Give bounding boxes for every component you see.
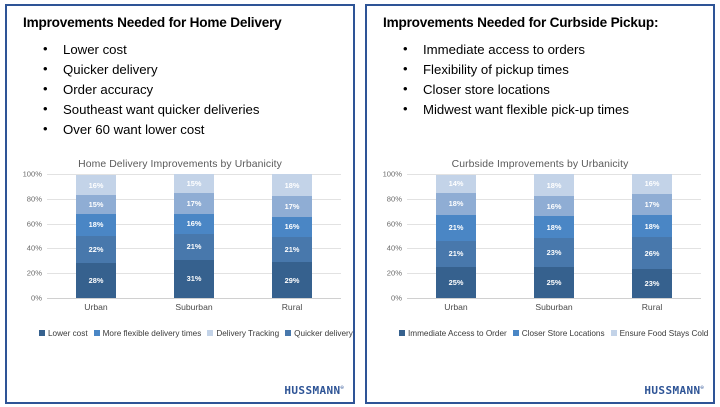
bar-segment[interactable]: 25% <box>534 267 574 298</box>
y-axis-tick-label: 40% <box>27 244 42 253</box>
logo-text: HUSSMANN <box>284 384 340 397</box>
legend-swatch-icon <box>513 330 519 336</box>
x-axis-tick-label: Urban <box>421 302 491 312</box>
bullet-list-right: Immediate access to ordersFlexibility of… <box>367 40 713 120</box>
bar-segment[interactable]: 26% <box>632 237 672 269</box>
legend-label: Closer Store Locations <box>522 329 605 338</box>
y-axis-tick-label: 0% <box>391 294 402 303</box>
bar-segment[interactable]: 16% <box>76 175 116 195</box>
plot-area-right: 100%80%60%40%20%0% 14%18%21%21%25%18%16%… <box>375 174 701 316</box>
panel-home-delivery: Improvements Needed for Home Delivery Lo… <box>0 0 360 407</box>
legend-left: Lower costMore flexible delivery timesDe… <box>39 327 345 340</box>
y-axis-tick-label: 60% <box>27 219 42 228</box>
logo-text: HUSSMANN <box>644 384 700 397</box>
bar-segment[interactable]: 15% <box>76 195 116 214</box>
legend-item[interactable]: Lower cost <box>39 327 88 340</box>
legend-label: Immediate Access to Order <box>408 329 507 338</box>
hussmann-logo-left: HUSSMANN® <box>284 384 344 397</box>
y-axis-tick-label: 100% <box>383 170 402 179</box>
x-axis-tick-label: Rural <box>617 302 687 312</box>
bar-segment[interactable]: 16% <box>534 196 574 216</box>
legend-swatch-icon <box>714 330 715 336</box>
bar-segment[interactable]: 31% <box>174 260 214 298</box>
bullet-list-left: Lower costQuicker deliveryOrder accuracy… <box>7 40 353 140</box>
bar-segment[interactable]: 21% <box>436 241 476 267</box>
stacked-bar[interactable]: 18%16%18%23%25% <box>534 174 574 298</box>
y-axis-tick-label: 0% <box>31 294 42 303</box>
slide: Improvements Needed for Home Delivery Lo… <box>0 0 720 407</box>
x-axis-tick-label: Suburban <box>519 302 589 312</box>
bar-segment[interactable]: 29% <box>272 262 312 298</box>
legend-swatch-icon <box>207 330 213 336</box>
bar-segment[interactable]: 17% <box>272 196 312 217</box>
bar-segment[interactable]: 17% <box>632 194 672 215</box>
plot-area-left: 100%80%60%40%20%0% 16%15%18%22%28%15%17%… <box>15 174 341 316</box>
legend-swatch-icon <box>285 330 291 336</box>
bar-segment[interactable]: 15% <box>174 174 214 193</box>
bar-segment[interactable]: 16% <box>174 214 214 234</box>
panel-border-right: Improvements Needed for Curbside Pickup:… <box>365 4 715 404</box>
bullet-item: Order accuracy <box>41 80 347 100</box>
bar-segment[interactable]: 17% <box>174 193 214 214</box>
bar-segment[interactable]: 23% <box>632 269 672 298</box>
legend-item[interactable]: Quicker delivery times <box>285 327 355 340</box>
legend-item[interactable]: Delivery Tracking <box>207 327 279 340</box>
x-axis-tick-label: Rural <box>257 302 327 312</box>
panel-border-left: Improvements Needed for Home Delivery Lo… <box>5 4 355 404</box>
bar-segment[interactable]: 18% <box>534 174 574 196</box>
legend-label: More flexible delivery times <box>103 329 202 338</box>
chart-home-delivery: Home Delivery Improvements by Urbanicity… <box>7 156 353 402</box>
bar-segment[interactable]: 16% <box>272 217 312 237</box>
legend-swatch-icon <box>611 330 617 336</box>
y-axis-tick-label: 80% <box>27 194 42 203</box>
bar-group-left: 16%15%18%22%28%15%17%16%21%31%18%17%16%2… <box>47 174 341 298</box>
registered-mark: ® <box>341 385 344 391</box>
y-axis-left: 100%80%60%40%20%0% <box>15 174 45 298</box>
legend-item[interactable]: More flexible pick-up times <box>714 327 715 340</box>
bullet-item: Quicker delivery <box>41 60 347 80</box>
bar-segment[interactable]: 14% <box>436 175 476 192</box>
page-title-left: Improvements Needed for Home Delivery <box>7 6 353 31</box>
legend-swatch-icon <box>94 330 100 336</box>
legend-label: Quicker delivery times <box>294 329 355 338</box>
x-axis-right: UrbanSuburbanRural <box>407 298 701 316</box>
legend-swatch-icon <box>39 330 45 336</box>
chart-title-right: Curbside Improvements by Urbanicity <box>367 156 713 172</box>
y-axis-tick-label: 20% <box>27 269 42 278</box>
y-axis-tick-label: 100% <box>23 170 42 179</box>
legend-label: Delivery Tracking <box>216 329 279 338</box>
bar-segment[interactable]: 18% <box>76 214 116 236</box>
panel-curbside-pickup: Improvements Needed for Curbside Pickup:… <box>360 0 720 407</box>
bar-segment[interactable]: 16% <box>632 174 672 194</box>
bar-group-right: 14%18%21%21%25%18%16%18%23%25%16%17%18%2… <box>407 174 701 298</box>
registered-mark: ® <box>701 385 704 391</box>
y-axis-tick-label: 60% <box>387 219 402 228</box>
bullet-item: Southeast want quicker deliveries <box>41 100 347 120</box>
stacked-bar[interactable]: 16%17%18%26%23% <box>632 174 672 298</box>
bar-segment[interactable]: 25% <box>436 267 476 298</box>
bar-segment[interactable]: 18% <box>272 174 312 196</box>
stacked-bar[interactable]: 18%17%16%21%29% <box>272 174 312 298</box>
legend-item[interactable]: Closer Store Locations <box>513 327 605 340</box>
bar-segment[interactable]: 28% <box>76 263 116 298</box>
bar-segment[interactable]: 22% <box>76 236 116 263</box>
x-axis-tick-label: Urban <box>61 302 131 312</box>
legend-label: Lower cost <box>48 329 88 338</box>
stacked-bar[interactable]: 15%17%16%21%31% <box>174 174 214 298</box>
bullet-item: Over 60 want lower cost <box>41 120 347 140</box>
hussmann-logo-right: HUSSMANN® <box>644 384 704 397</box>
legend-swatch-icon <box>399 330 405 336</box>
x-axis-tick-label: Suburban <box>159 302 229 312</box>
bullet-item: Immediate access to orders <box>401 40 707 60</box>
chart-curbside: Curbside Improvements by Urbanicity 100%… <box>367 156 713 402</box>
bullet-item: Closer store locations <box>401 80 707 100</box>
legend-item[interactable]: More flexible delivery times <box>94 327 202 340</box>
y-axis-tick-label: 80% <box>387 194 402 203</box>
legend-right: Immediate Access to OrderCloser Store Lo… <box>399 327 705 340</box>
chart-title-left: Home Delivery Improvements by Urbanicity <box>7 156 353 172</box>
bullet-item: Flexibility of pickup times <box>401 60 707 80</box>
bar-segment[interactable]: 21% <box>436 215 476 241</box>
bar-segment[interactable]: 18% <box>436 193 476 215</box>
y-axis-right: 100%80%60%40%20%0% <box>375 174 405 298</box>
legend-label: Ensure Food Stays Cold <box>620 329 709 338</box>
bar-segment[interactable]: 23% <box>534 238 574 267</box>
legend-item[interactable]: Ensure Food Stays Cold <box>611 327 709 340</box>
y-axis-tick-label: 20% <box>387 269 402 278</box>
page-title-right: Improvements Needed for Curbside Pickup: <box>367 6 713 31</box>
stacked-bar[interactable]: 16%15%18%22%28% <box>76 174 116 298</box>
bar-segment[interactable]: 21% <box>272 237 312 263</box>
y-axis-tick-label: 40% <box>387 244 402 253</box>
bar-segment[interactable]: 18% <box>534 216 574 238</box>
bullet-item: Midwest want flexible pick-up times <box>401 100 707 120</box>
bar-segment[interactable]: 21% <box>174 234 214 260</box>
stacked-bar[interactable]: 14%18%21%21%25% <box>436 174 476 298</box>
x-axis-left: UrbanSuburbanRural <box>47 298 341 316</box>
legend-item[interactable]: Immediate Access to Order <box>399 327 507 340</box>
bar-segment[interactable]: 18% <box>632 215 672 237</box>
bullet-item: Lower cost <box>41 40 347 60</box>
